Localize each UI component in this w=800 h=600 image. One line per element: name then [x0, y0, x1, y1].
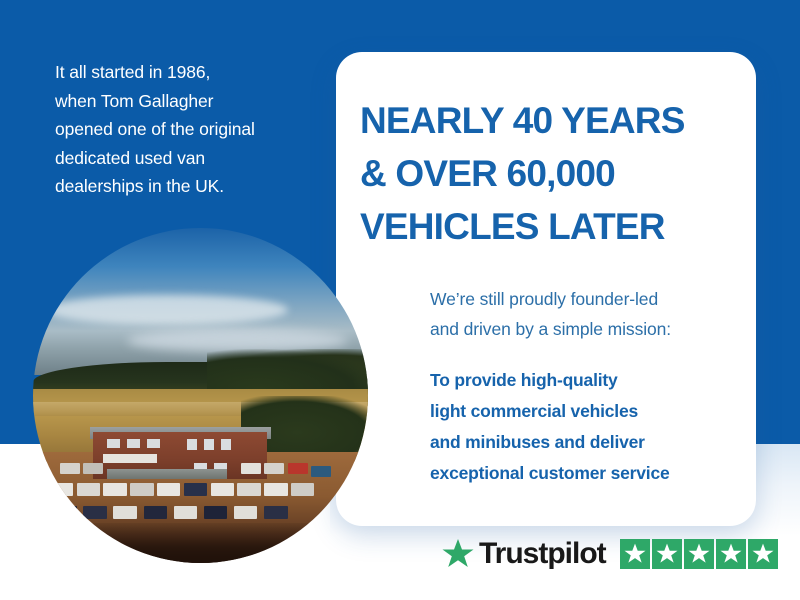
- mission-statement: To provide high-quality light commercial…: [430, 365, 740, 489]
- photo-van: [77, 483, 100, 496]
- headline-line: & OVER 60,000: [360, 147, 740, 200]
- photo-van: [234, 506, 257, 519]
- mission-line: and minibuses and deliver: [430, 427, 740, 458]
- star-tile: [620, 539, 650, 569]
- mission-line: light commercial vehicles: [430, 396, 740, 427]
- subheading: We’re still proudly founder-led and driv…: [430, 284, 740, 344]
- subheading-line: We’re still proudly founder-led: [430, 284, 740, 314]
- photo-van: [184, 483, 207, 496]
- photo-van: [144, 506, 167, 519]
- dealership-photo: [33, 228, 368, 563]
- photo-foreground-shadow: [33, 523, 368, 563]
- photo-van: [204, 506, 227, 519]
- star-icon: [720, 543, 742, 564]
- star-tile: [716, 539, 746, 569]
- trustpilot-star-icon: [442, 538, 474, 569]
- photo-van: [264, 463, 284, 474]
- photo-van: [311, 466, 331, 477]
- headline: NEARLY 40 YEARS & OVER 60,000 VEHICLES L…: [360, 94, 740, 253]
- star-icon: [688, 543, 710, 564]
- trustpilot-logo[interactable]: Trustpilot: [442, 538, 606, 569]
- photo-van: [60, 463, 80, 474]
- content-card: NEARLY 40 YEARS & OVER 60,000 VEHICLES L…: [336, 52, 756, 526]
- photo-van: [264, 483, 287, 496]
- photo-window: [147, 439, 160, 448]
- photo-van: [237, 483, 260, 496]
- photo-van: [211, 483, 234, 496]
- mission-line: exceptional customer service: [430, 458, 740, 489]
- promo-graphic: It all started in 1986, when Tom Gallagh…: [0, 0, 800, 600]
- mission-line: To provide high-quality: [430, 365, 740, 396]
- photo-window: [107, 439, 120, 448]
- trustpilot-star-rating: [620, 539, 778, 569]
- photo-van: [241, 463, 261, 474]
- star-tile: [684, 539, 714, 569]
- photo-building-sign: [103, 454, 157, 463]
- photo-van: [288, 463, 308, 474]
- intro-line: when Tom Gallagher: [55, 87, 310, 116]
- photo-window: [204, 439, 214, 450]
- intro-line: dealerships in the UK.: [55, 172, 310, 201]
- photo-canopy: [107, 469, 228, 479]
- photo-window: [187, 439, 197, 450]
- photo-window: [127, 439, 140, 448]
- intro-line: It all started in 1986,: [55, 58, 310, 87]
- trustpilot-rating[interactable]: Trustpilot: [442, 538, 778, 569]
- photo-van: [130, 483, 153, 496]
- headline-line: NEARLY 40 YEARS: [360, 94, 740, 147]
- subheading-line: and driven by a simple mission:: [430, 314, 740, 344]
- photo-van: [50, 483, 73, 496]
- star-icon: [624, 543, 646, 564]
- headline-line: VEHICLES LATER: [360, 200, 740, 253]
- photo-van: [157, 483, 180, 496]
- photo-van: [83, 463, 103, 474]
- star-tile: [652, 539, 682, 569]
- intro-line: opened one of the original: [55, 115, 310, 144]
- photo-van: [113, 506, 136, 519]
- photo-van: [264, 506, 287, 519]
- trustpilot-wordmark: Trustpilot: [479, 539, 606, 569]
- intro-line: dedicated used van: [55, 144, 310, 173]
- photo-van: [83, 506, 106, 519]
- star-tile: [748, 539, 778, 569]
- photo-van: [103, 483, 126, 496]
- intro-paragraph: It all started in 1986, when Tom Gallagh…: [55, 58, 310, 201]
- photo-van: [174, 506, 197, 519]
- photo-window: [221, 439, 231, 450]
- photo-van: [291, 483, 314, 496]
- photo-van: [53, 506, 76, 519]
- photo-cloud: [46, 295, 287, 325]
- star-icon: [656, 543, 678, 564]
- star-icon: [752, 543, 774, 564]
